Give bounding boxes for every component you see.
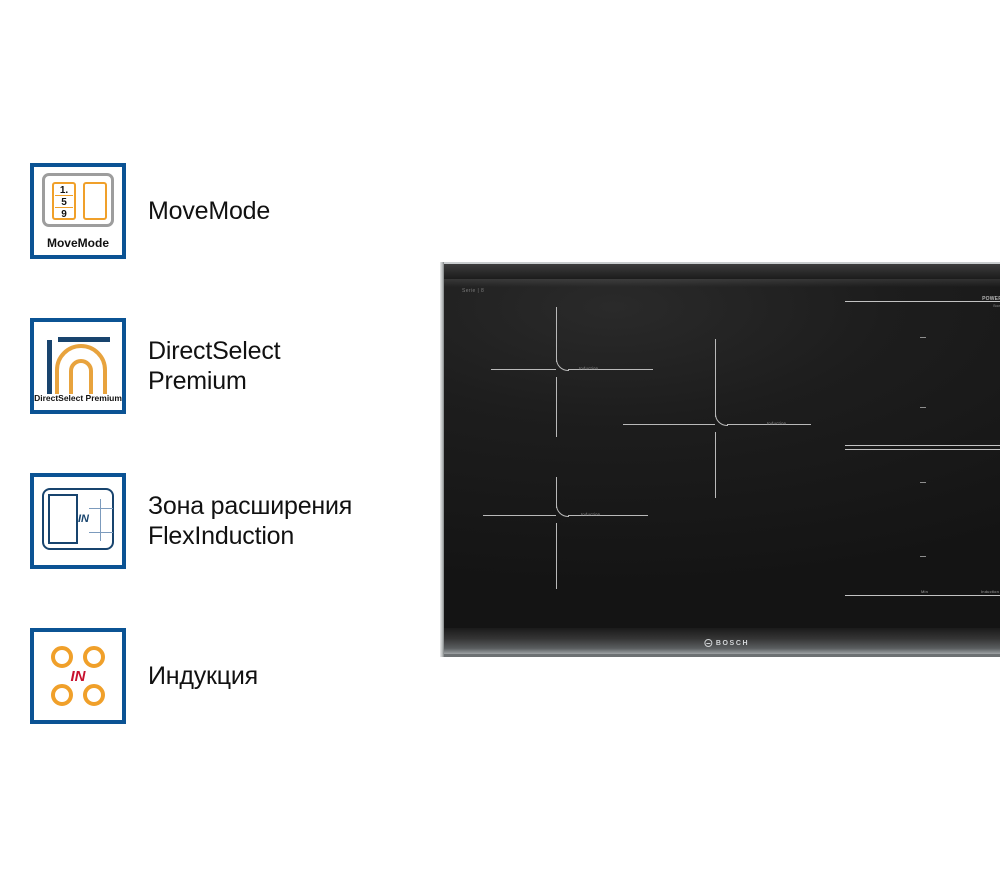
cooktop-glass-surface: Serie | 8 Induction Induction Indu <box>443 279 1000 629</box>
cooktop-zone-center: Induction <box>623 339 813 499</box>
control-dash-4 <box>920 556 926 557</box>
badge-flex-induction-zone: IN <box>30 473 126 569</box>
induction-ring-bottom-left <box>51 684 73 706</box>
feature-label-induction: Индукция <box>148 661 258 691</box>
power-boost-title: POWER <box>968 297 1000 303</box>
feature-row-move-mode: 1. 5 9 MoveMode MoveMode <box>30 133 430 288</box>
control-dash-1 <box>920 337 926 338</box>
bosch-logo: BOSCH <box>704 639 749 647</box>
flex-induction-crosshair-h-bottom <box>89 532 113 533</box>
power-boost-subtitle: Boost <box>968 304 1000 308</box>
move-mode-pane-right <box>83 182 107 220</box>
badge-induction: IN <box>30 628 126 724</box>
control-slider-label-min: Min <box>921 589 928 594</box>
induction-ring-top-left <box>51 646 73 668</box>
move-mode-pane-left: 1. 5 9 <box>52 182 76 220</box>
cooktop-zone-label-bottom-left: Induction <box>581 512 600 517</box>
flex-induction-in-label: IN <box>78 513 89 525</box>
move-mode-digit-1: 1. <box>54 185 74 196</box>
badge-caption-move-mode: MoveMode <box>34 237 122 250</box>
flex-induction-crosshair-h-top <box>89 508 113 509</box>
pan-icon <box>52 344 110 396</box>
control-dash-3 <box>920 482 926 483</box>
induction-ring-top-right <box>83 646 105 668</box>
flex-induction-crosshair-v <box>100 499 101 541</box>
cooktop-glass-sheen <box>443 279 1000 287</box>
control-slider-line-3[interactable] <box>845 449 1000 450</box>
control-slider-line-4[interactable] <box>845 595 1000 596</box>
product-image-cooktop: Serie | 8 Induction Induction Indu <box>440 262 1000 657</box>
control-dash-2 <box>920 407 926 408</box>
induction-in-label: IN <box>34 668 122 685</box>
flex-induction-zone-rect <box>48 494 78 544</box>
induction-ring-bottom-right <box>83 684 105 706</box>
feature-list: 1. 5 9 MoveMode MoveMode DirectSelect Pr… <box>30 133 430 753</box>
cooktop-zone-label-center: Induction <box>767 421 786 426</box>
feature-row-direct-select-premium: DirectSelect Premium DirectSelect Premiu… <box>30 288 430 443</box>
cooktop-left-edge <box>440 262 444 657</box>
power-boost-badge: POWER Boost <box>968 297 1000 310</box>
control-slider-label-induction: Induction <box>981 589 999 594</box>
feature-row-induction: IN Индукция <box>30 598 430 753</box>
move-mode-digit-3: 9 <box>54 209 74 220</box>
direct-select-horizontal-bar <box>58 337 110 342</box>
bosch-logo-text: BOSCH <box>716 640 749 647</box>
feature-label-flex-induction-zone: Зона расширения FlexInduction <box>148 491 352 551</box>
cooktop-zone-bottom-left: Induction <box>483 477 663 607</box>
control-slider-line-2[interactable] <box>845 445 1000 446</box>
bosch-logo-mark-icon <box>704 639 712 647</box>
feature-row-flex-induction-zone: IN Зона расширения FlexInduction <box>30 443 430 598</box>
feature-label-move-mode: MoveMode <box>148 196 270 226</box>
feature-label-direct-select-premium: DirectSelect Premium <box>148 336 280 396</box>
serie-badge: Serie | 8 <box>462 288 484 294</box>
cooktop-bottom-bevel: BOSCH <box>443 628 1000 654</box>
cooktop-zone-label-top-left: Induction <box>579 366 598 371</box>
badge-move-mode: 1. 5 9 MoveMode <box>30 163 126 259</box>
move-mode-cooktop-outline: 1. 5 9 <box>42 173 114 227</box>
badge-direct-select-premium: DirectSelect Premium <box>30 318 126 414</box>
badge-caption-direct-select-premium: DirectSelect Premium <box>34 392 122 405</box>
move-mode-digit-2: 5 <box>54 197 74 208</box>
